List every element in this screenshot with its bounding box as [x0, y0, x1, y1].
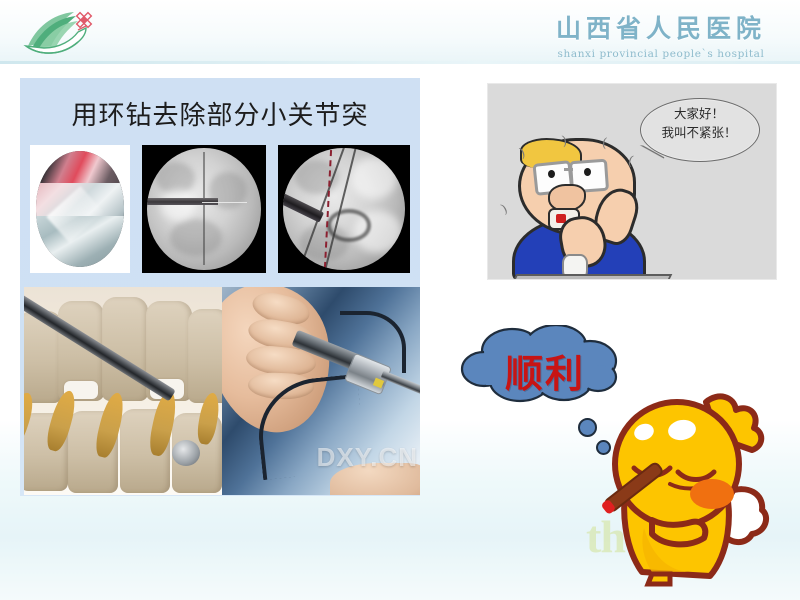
speech-bubble-text: 大家好！ 我叫不紧张！: [640, 104, 758, 143]
table: [504, 274, 673, 280]
xray-highlight: [351, 157, 397, 199]
xray-field: [283, 148, 404, 271]
pupil: [548, 170, 555, 178]
endoscopic-view-image: [30, 145, 130, 273]
vertebra: [188, 309, 222, 403]
header-divider: [0, 61, 800, 64]
xray-needle: [202, 202, 248, 204]
speech-line-2: 我叫不紧张！: [640, 123, 758, 142]
xray-midline: [203, 152, 205, 265]
hospital-name-cn: 山西省人民医院: [530, 9, 792, 45]
pupil: [584, 168, 591, 176]
xray-instrument: [283, 190, 324, 223]
trephine-tip: [172, 440, 200, 466]
xray-field: [147, 148, 261, 271]
spine-anatomy-trephine-illustration: [24, 287, 222, 495]
photo-watermark: DXY.CN: [317, 442, 418, 473]
surgery-photo-handheld-trephine: DXY.CN: [222, 287, 420, 495]
slide-title: 用环钻去除部分小关节突: [20, 95, 420, 132]
sweat-drop-icon: ): [499, 202, 511, 218]
xray-shadow: [170, 219, 222, 256]
presentation-slide: 山西省人民医院 shanxi provincial people`s hospi…: [0, 0, 800, 600]
dove-with-red-cross-icon: [22, 6, 98, 58]
fluoroscopy-lateral-view-image: [278, 145, 410, 273]
glasses-bridge: [564, 168, 573, 171]
hospital-brand: 山西省人民医院 shanxi provincial people`s hospi…: [530, 9, 792, 60]
yellow-chick-with-cigar: [578, 388, 774, 588]
fluoroscopy-ap-view-image: [142, 145, 266, 273]
cartoon-panel: ) ) ( ( ) 大家好！ 我叫不紧张！: [487, 83, 777, 280]
endoscope-circle: [36, 151, 124, 267]
sweat-drop-icon: (: [626, 154, 635, 170]
hospital-name-en: shanxi provincial people`s hospital: [530, 48, 792, 60]
xray-highlight: [161, 189, 195, 221]
speech-line-1: 大家好！: [640, 104, 758, 123]
